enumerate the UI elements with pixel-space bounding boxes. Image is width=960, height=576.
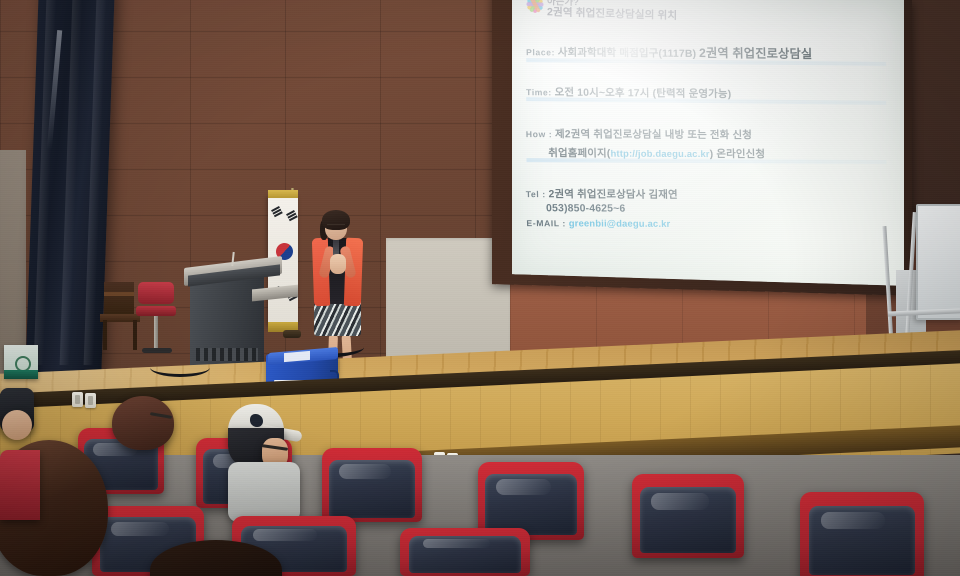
attendee-hand bbox=[2, 410, 32, 440]
floor-cable bbox=[150, 358, 210, 377]
seat-edge-foreground bbox=[0, 450, 40, 520]
wall-outlet[interactable] bbox=[72, 392, 83, 407]
seat[interactable] bbox=[322, 448, 422, 522]
slide-how-value1: 제2권역 취업진로상담실 내방 또는 전화 신청 bbox=[555, 129, 752, 141]
wall-outlet[interactable] bbox=[85, 393, 96, 408]
slide-how-label: How : bbox=[526, 129, 553, 139]
flag-stand bbox=[283, 330, 301, 338]
whiteboard bbox=[916, 204, 960, 320]
slide-how-line1: How : 제2권역 취업진로상담실 내방 또는 전화 신청 bbox=[526, 125, 896, 142]
red-chair-foot bbox=[142, 348, 172, 353]
slide-tel-line: Tel : 2권역 취업진로상담사 김재연 bbox=[526, 185, 896, 202]
flag-fringe-top bbox=[268, 190, 298, 198]
slide-place-highlight: 2권역 취업진로상담실 bbox=[699, 46, 813, 61]
floor-box-band bbox=[4, 370, 38, 379]
projection-screen: 아는가? 2권역 취업진로상담실의 위치 Place: 사회과학대학 매점입구(… bbox=[512, 0, 904, 286]
speaker-glasses-icon bbox=[327, 224, 345, 229]
red-chair-leg bbox=[154, 316, 158, 350]
seat-cushion bbox=[640, 487, 736, 553]
asterisk-flower-icon bbox=[526, 0, 543, 13]
slide-email-value[interactable]: greenbii@daegu.ac.kr bbox=[569, 217, 671, 229]
slide-heading: 아는가? 2권역 취업진로상담실의 위치 bbox=[547, 0, 677, 22]
slide-underline bbox=[526, 158, 886, 164]
attendee-shirt bbox=[228, 462, 300, 522]
speaker-hands bbox=[330, 254, 346, 274]
projected-slide: 아는가? 2권역 취업진로상담실의 위치 Place: 사회과학대학 매점입구(… bbox=[512, 0, 904, 286]
slide-tel-number: 053)850-4625~6 bbox=[546, 203, 896, 216]
slide-heading-line2: 2권역 취업진로상담실의 위치 bbox=[547, 7, 677, 22]
seat-cushion bbox=[409, 536, 521, 573]
slide-contact-block: Tel : 2권역 취업진로상담사 김재연 053)850-4625~6 E-M… bbox=[526, 185, 897, 230]
slide-place-block: Place: 사회과학대학 매점입구(1117B) 2권역 취업진로상담실 bbox=[526, 41, 896, 63]
seat-cushion bbox=[809, 506, 916, 575]
slide-time-block: Time: 오전 10시~오후 17시 (탄력적 운영가능) bbox=[526, 83, 896, 102]
flag-trigram bbox=[271, 206, 280, 212]
slide-time-label: Time: bbox=[526, 87, 552, 97]
attendee-head-glasses bbox=[112, 396, 174, 450]
wooden-chair-leg bbox=[133, 320, 137, 350]
curtain-fold bbox=[34, 0, 57, 365]
red-chair-back bbox=[138, 282, 174, 304]
wooden-chair-back bbox=[104, 282, 134, 316]
slide-email-line: E-MAIL : greenbii@daegu.ac.kr bbox=[526, 217, 896, 230]
job-site-link[interactable]: http://job.daegu.ac.kr bbox=[610, 148, 709, 160]
curtain-fold bbox=[60, 0, 83, 365]
slide-heading-row: 아는가? 2권역 취업진로상담실의 위치 bbox=[526, 0, 896, 29]
seat[interactable] bbox=[632, 474, 744, 558]
red-chair-seat bbox=[136, 306, 176, 316]
photo-scene: 아는가? 2권역 취업진로상담실의 위치 Place: 사회과학대학 매점입구(… bbox=[0, 0, 960, 576]
slide-place-label: Place: bbox=[526, 47, 555, 57]
wooden-chair-leg bbox=[103, 320, 107, 350]
seat-cushion bbox=[329, 460, 415, 518]
seat-cushion bbox=[485, 474, 576, 535]
slide-email-label: E-MAIL : bbox=[526, 218, 566, 228]
flag-trigram bbox=[286, 210, 295, 216]
slide-how-block: How : 제2권역 취업진로상담실 내방 또는 전화 신청 취업홈페이지(ht… bbox=[526, 125, 897, 161]
seat[interactable] bbox=[400, 528, 530, 576]
seat[interactable] bbox=[800, 492, 924, 576]
slide-tel-label: Tel : bbox=[526, 189, 546, 199]
slide-tel-value: 2권역 취업진로상담사 김재연 bbox=[548, 189, 677, 201]
cap-logo-icon bbox=[250, 414, 263, 427]
